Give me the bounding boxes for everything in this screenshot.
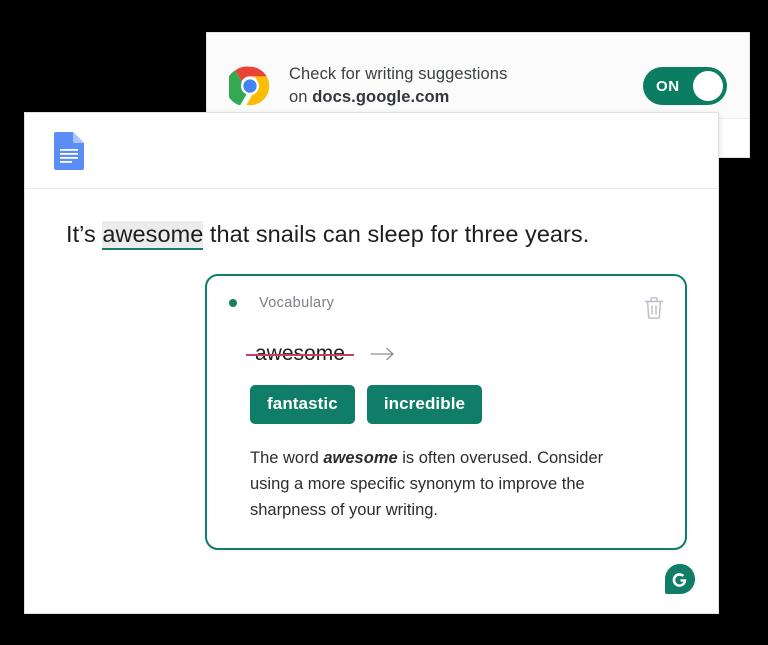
category-label: Vocabulary <box>259 295 334 311</box>
chrome-popup-message-line2: on docs.google.com <box>289 86 643 109</box>
suggestion-chip-incredible[interactable]: incredible <box>367 385 482 424</box>
docs-header <box>25 113 718 189</box>
suggestion-chip-fantastic[interactable]: fantastic <box>250 385 355 424</box>
trash-icon[interactable] <box>643 295 665 321</box>
google-docs-window: It’s awesome that snails can sleep for t… <box>24 112 719 614</box>
chrome-popup-message-line1: Check for writing suggestions <box>289 63 643 86</box>
explanation-text: The word awesome is often overused. Cons… <box>250 445 620 523</box>
explanation-part1: The word <box>250 449 323 467</box>
chrome-popup-on-prefix: on <box>289 88 312 106</box>
arrow-right-icon <box>370 346 396 362</box>
suggestion-chips: fantastic incredible <box>250 385 685 424</box>
grammarly-suggestion-card: Vocabulary awesome fantastic incredible … <box>205 274 687 550</box>
sentence-before: It’s <box>66 221 102 247</box>
grammarly-logo-icon[interactable] <box>665 564 695 594</box>
sentence-after: that snails can sleep for three years. <box>203 221 589 247</box>
toggle-knob[interactable] <box>693 71 723 101</box>
chrome-popup-row: Check for writing suggestions on docs.go… <box>207 33 749 121</box>
highlighted-word[interactable]: awesome <box>102 221 203 250</box>
original-word: awesome <box>249 342 351 366</box>
docs-body: It’s awesome that snails can sleep for t… <box>25 221 718 248</box>
card-header: Vocabulary <box>207 276 685 321</box>
original-word-row: awesome <box>249 342 685 366</box>
card-category: Vocabulary <box>227 295 643 311</box>
category-dot-icon <box>229 299 237 307</box>
chrome-logo-icon <box>229 65 271 107</box>
toggle-state-label: ON <box>656 78 680 95</box>
chrome-popup-message: Check for writing suggestions on docs.go… <box>289 63 643 109</box>
google-docs-icon <box>54 132 84 170</box>
document-sentence: It’s awesome that snails can sleep for t… <box>66 221 718 248</box>
explanation-emphasis: awesome <box>323 449 397 467</box>
chrome-popup-domain: docs.google.com <box>312 88 449 106</box>
writing-suggestions-toggle[interactable]: ON <box>643 67 727 105</box>
